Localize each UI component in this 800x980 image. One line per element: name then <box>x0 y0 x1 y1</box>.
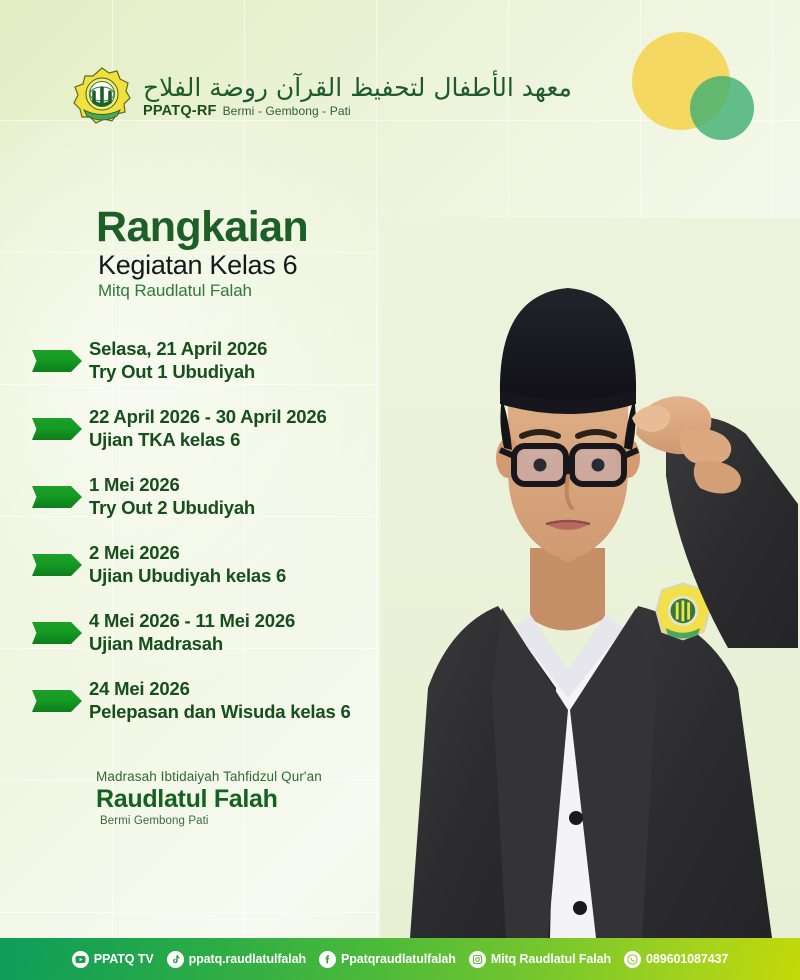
schedule-event: Pelepasan dan Wisuda kelas 6 <box>89 701 351 724</box>
list-item: 4 Mei 2026 - 11 Mei 2026 Ujian Madrasah <box>32 610 462 678</box>
social-item-whatsapp[interactable]: 089601087437 <box>624 951 728 968</box>
institution-footer-block: Madrasah Ibtidaiyah Tahfidzul Qur'an Rau… <box>96 768 322 828</box>
social-item-youtube[interactable]: PPATQ TV <box>72 951 154 968</box>
list-item-text: 1 Mei 2026 Try Out 2 Ubudiyah <box>89 474 255 519</box>
page-subtitle: Kegiatan Kelas 6 <box>98 250 308 280</box>
schedule-date: 4 Mei 2026 - 11 Mei 2026 <box>89 610 295 633</box>
brand-abbrev: PPATQ-RF <box>143 104 217 119</box>
list-item-text: Selasa, 21 April 2026 Try Out 1 Ubudiyah <box>89 338 267 383</box>
arrow-banner-icon <box>32 690 82 712</box>
page-title: Rangkaian <box>96 206 308 248</box>
brand-header: معهد الأطفال لتحفيظ القرآن روضة الفلاح P… <box>72 66 572 126</box>
tiktok-icon <box>167 951 184 968</box>
poster-canvas: معهد الأطفال لتحفيظ القرآن روضة الفلاح P… <box>0 0 800 980</box>
brand-text-block: معهد الأطفال لتحفيظ القرآن روضة الفلاح P… <box>143 74 572 118</box>
schedule-date: 2 Mei 2026 <box>89 542 286 565</box>
social-label: Ppatqraudlatulfalah <box>341 952 456 966</box>
list-item: Selasa, 21 April 2026 Try Out 1 Ubudiyah <box>32 338 462 406</box>
youtube-icon <box>72 951 89 968</box>
list-item-text: 2 Mei 2026 Ujian Ubudiyah kelas 6 <box>89 542 286 587</box>
facebook-icon <box>319 951 336 968</box>
schedule-date: 1 Mei 2026 <box>89 474 255 497</box>
brand-name-row: PPATQ-RF Bermi - Gembong - Pati <box>143 104 572 119</box>
arrow-banner-icon <box>32 418 82 440</box>
social-label: Mitq Raudlatul Falah <box>491 952 611 966</box>
schedule-date: Selasa, 21 April 2026 <box>89 338 267 361</box>
title-block: Rangkaian Kegiatan Kelas 6 Mitq Raudlatu… <box>96 206 308 301</box>
page-subtitle-secondary: Mitq Raudlatul Falah <box>98 281 308 301</box>
institution-name: Raudlatul Falah <box>96 785 322 813</box>
list-item-text: 4 Mei 2026 - 11 Mei 2026 Ujian Madrasah <box>89 610 295 655</box>
arrow-banner-icon <box>32 554 82 576</box>
arrow-banner-icon <box>32 622 82 644</box>
list-item: 24 Mei 2026 Pelepasan dan Wisuda kelas 6 <box>32 678 462 746</box>
arrow-banner-icon <box>32 350 82 372</box>
brand-location: Bermi - Gembong - Pati <box>223 105 351 117</box>
social-media-bar: PPATQ TV ppatq.raudlatulfalah Ppatqraudl… <box>0 938 800 980</box>
social-item-tiktok[interactable]: ppatq.raudlatulfalah <box>167 951 306 968</box>
institution-location: Bermi Gembong Pati <box>100 814 322 829</box>
institution-type: Madrasah Ibtidaiyah Tahfidzul Qur'an <box>96 768 322 786</box>
list-item-text: 22 April 2026 - 30 April 2026 Ujian TKA … <box>89 406 327 451</box>
schedule-event: Ujian Madrasah <box>89 633 295 656</box>
schedule-list: Selasa, 21 April 2026 Try Out 1 Ubudiyah… <box>32 338 462 746</box>
arabic-calligraphy: معهد الأطفال لتحفيظ القرآن روضة الفلاح <box>143 74 572 103</box>
whatsapp-icon <box>624 951 641 968</box>
instagram-icon <box>469 951 486 968</box>
schedule-event: Ujian TKA kelas 6 <box>89 429 327 452</box>
schedule-event: Try Out 1 Ubudiyah <box>89 361 267 384</box>
social-item-facebook[interactable]: Ppatqraudlatulfalah <box>319 951 456 968</box>
list-item: 1 Mei 2026 Try Out 2 Ubudiyah <box>32 474 462 542</box>
list-item: 22 April 2026 - 30 April 2026 Ujian TKA … <box>32 406 462 474</box>
list-item-text: 24 Mei 2026 Pelepasan dan Wisuda kelas 6 <box>89 678 351 723</box>
schedule-event: Ujian Ubudiyah kelas 6 <box>89 565 286 588</box>
schedule-date: 24 Mei 2026 <box>89 678 351 701</box>
list-item: 2 Mei 2026 Ujian Ubudiyah kelas 6 <box>32 542 462 610</box>
arrow-banner-icon <box>32 486 82 508</box>
social-label: ppatq.raudlatulfalah <box>189 952 306 966</box>
social-label: PPATQ TV <box>94 952 154 966</box>
social-label: 089601087437 <box>646 952 728 966</box>
school-crest-icon <box>72 66 132 126</box>
schedule-date: 22 April 2026 - 30 April 2026 <box>89 406 327 429</box>
green-circle-decoration <box>690 76 754 140</box>
social-item-instagram[interactable]: Mitq Raudlatul Falah <box>469 951 611 968</box>
schedule-event: Try Out 2 Ubudiyah <box>89 497 255 520</box>
